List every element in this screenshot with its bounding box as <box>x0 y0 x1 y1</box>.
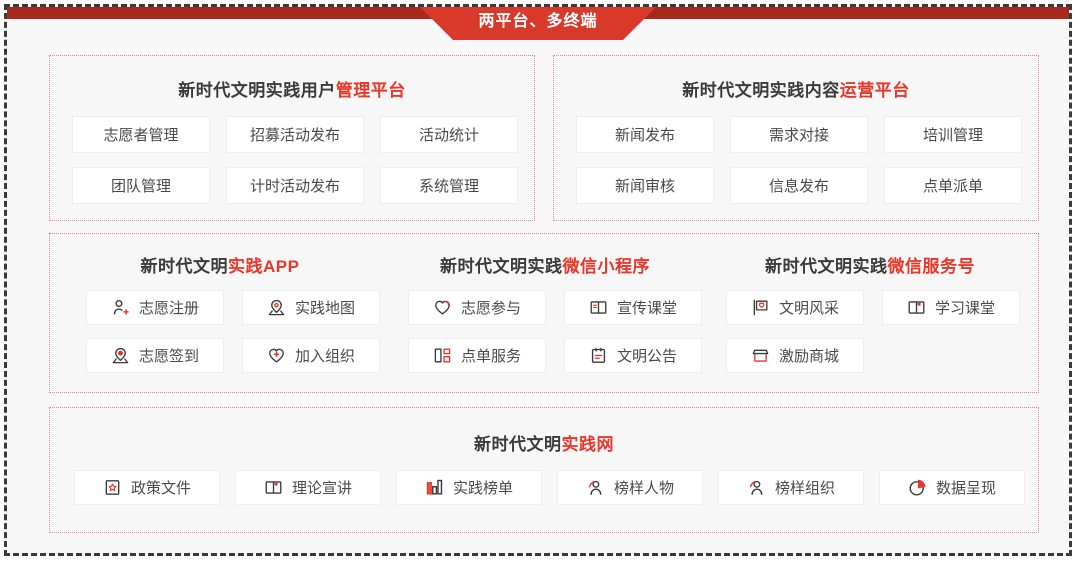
tile-civilization-announcement[interactable]: 文明公告 <box>564 338 702 373</box>
tile-label: 激励商城 <box>779 345 839 366</box>
panel-terminals: 新时代文明实践APP 新时代文明实践微信小程序 新时代文明实践微信服务号 志愿注… <box>49 233 1039 393</box>
column-title-plain: 新时代文明实践 <box>440 257 563 276</box>
tile-training-management[interactable]: 培训管理 <box>884 116 1022 153</box>
open-book-icon <box>589 298 608 317</box>
map-pin-icon <box>267 298 286 317</box>
tile-label: 点单服务 <box>461 345 521 366</box>
tile-recruitment-activity-publish[interactable]: 招募活动发布 <box>226 116 364 153</box>
tile-label: 文明风采 <box>779 297 839 318</box>
panel-title-highlight: 实践网 <box>562 435 615 454</box>
tile-volunteer-participate[interactable]: 志愿参与 <box>408 290 546 325</box>
tile-team-management[interactable]: 团队管理 <box>72 167 210 204</box>
tile-label: 实践榜单 <box>453 477 513 498</box>
column-title-service-account: 新时代文明实践微信服务号 <box>715 252 1025 277</box>
tile-volunteer-management[interactable]: 志愿者管理 <box>72 116 210 153</box>
tile-news-review[interactable]: 新闻审核 <box>576 167 714 204</box>
open-book-icon <box>264 478 283 497</box>
panel-content-operation-platform: 新时代文明实践内容运营平台 新闻发布 需求对接 培训管理 新闻审核 信息发布 点… <box>553 55 1039 221</box>
book-icon <box>907 298 926 317</box>
panel-title-plain: 新时代文明实践内容 <box>682 81 840 100</box>
tile-label: 榜样人物 <box>614 477 674 498</box>
panel-practice-website: 新时代文明实践网 政策文件 理论宣讲 <box>49 407 1039 533</box>
panel-title-highlight: 运营平台 <box>840 81 910 100</box>
tile-news-publish[interactable]: 新闻发布 <box>576 116 714 153</box>
tile-order-dispatch[interactable]: 点单派单 <box>884 167 1022 204</box>
document-star-icon <box>103 478 122 497</box>
tile-label: 志愿签到 <box>139 345 199 366</box>
panel-title-practice-website: 新时代文明实践网 <box>50 430 1038 455</box>
tile-volunteer-checkin[interactable]: 志愿签到 <box>86 338 224 373</box>
tile-label: 学习课堂 <box>935 297 995 318</box>
tile-learning-classroom[interactable]: 学习课堂 <box>882 290 1020 325</box>
tile-incentive-mall[interactable]: 激励商城 <box>726 338 864 373</box>
tile-model-organizations[interactable]: 榜样组织 <box>718 470 864 505</box>
banner-title: 两平台、多终端 <box>420 7 656 40</box>
person-add-icon <box>111 298 130 317</box>
tile-system-management[interactable]: 系统管理 <box>380 167 518 204</box>
tile-label: 志愿注册 <box>139 297 199 318</box>
tile-label: 政策文件 <box>131 477 191 498</box>
tile-label: 加入组织 <box>295 345 355 366</box>
org-chart-icon <box>433 346 452 365</box>
person-red-icon <box>747 478 766 497</box>
tile-practice-map[interactable]: 实践地图 <box>242 290 380 325</box>
column-title-highlight: 实践APP <box>228 257 299 276</box>
tile-order-service[interactable]: 点单服务 <box>408 338 546 373</box>
tile-practice-ranking[interactable]: 实践榜单 <box>396 470 542 505</box>
panel-title-highlight: 管理平台 <box>336 81 406 100</box>
panel-title-plain: 新时代文明实践用户 <box>178 81 336 100</box>
tile-theory-lecture[interactable]: 理论宣讲 <box>235 470 381 505</box>
tile-data-presentation[interactable]: 数据呈现 <box>879 470 1025 505</box>
tile-join-organization[interactable]: 加入组织 <box>242 338 380 373</box>
tile-activity-statistics[interactable]: 活动统计 <box>380 116 518 153</box>
tile-publicity-classroom[interactable]: 宣传课堂 <box>564 290 702 325</box>
tile-label: 文明公告 <box>617 345 677 366</box>
flag-heart-icon <box>751 298 770 317</box>
tile-label: 数据呈现 <box>936 477 996 498</box>
tile-label: 榜样组织 <box>775 477 835 498</box>
panel-user-management-platform: 新时代文明实践用户管理平台 志愿者管理 招募活动发布 活动统计 团队管理 计时活… <box>49 55 535 221</box>
column-title-highlight: 微信服务号 <box>888 257 976 276</box>
pin-check-icon <box>111 346 130 365</box>
pie-chart-icon <box>908 478 927 497</box>
shop-icon <box>751 346 770 365</box>
tile-label: 宣传课堂 <box>617 297 677 318</box>
clipboard-icon <box>589 346 608 365</box>
tile-civilization-style[interactable]: 文明风采 <box>726 290 864 325</box>
panel-title-plain: 新时代文明 <box>474 435 562 454</box>
tile-timed-activity-publish[interactable]: 计时活动发布 <box>226 167 364 204</box>
tile-policy-documents[interactable]: 政策文件 <box>74 470 220 505</box>
tile-demand-matching[interactable]: 需求对接 <box>730 116 868 153</box>
tile-label: 志愿参与 <box>461 297 521 318</box>
heart-icon <box>433 298 452 317</box>
poster-frame: 两平台、多终端 新时代文明实践用户管理平台 志愿者管理 招募活动发布 活动统计 … <box>4 4 1072 556</box>
tile-model-figures[interactable]: 榜样人物 <box>557 470 703 505</box>
bar-chart-icon <box>425 478 444 497</box>
tile-label: 理论宣讲 <box>292 477 352 498</box>
column-title-miniprogram: 新时代文明实践微信小程序 <box>390 252 700 277</box>
column-title-plain: 新时代文明 <box>141 257 229 276</box>
heart-plus-icon <box>267 346 286 365</box>
tile-label: 实践地图 <box>295 297 355 318</box>
column-title-app: 新时代文明实践APP <box>70 252 370 277</box>
column-title-plain: 新时代文明实践 <box>765 257 888 276</box>
tile-information-publish[interactable]: 信息发布 <box>730 167 868 204</box>
panel-title-content-operation: 新时代文明实践内容运营平台 <box>554 76 1038 101</box>
column-title-highlight: 微信小程序 <box>563 257 651 276</box>
person-red-icon <box>586 478 605 497</box>
panel-title-user-management: 新时代文明实践用户管理平台 <box>50 76 534 101</box>
tile-volunteer-register[interactable]: 志愿注册 <box>86 290 224 325</box>
